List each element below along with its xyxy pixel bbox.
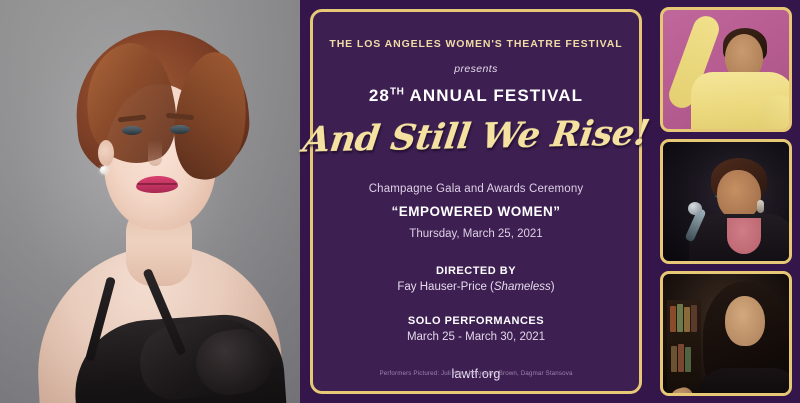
photo3-book [678, 344, 684, 372]
photo2-head [717, 170, 761, 220]
directed-by-label: DIRECTED BY [436, 265, 516, 277]
photo2-neckline [727, 218, 761, 254]
photo3-head [725, 296, 765, 346]
photo3-book [670, 306, 676, 332]
solo-performances-dates: March 25 - March 30, 2021 [407, 331, 545, 343]
director-credit-close: ) [551, 281, 555, 293]
photo3-torso [697, 368, 792, 396]
gala-date: Thursday, March 25, 2021 [409, 228, 542, 240]
solo-performances-label: SOLO PERFORMANCES [408, 315, 544, 327]
portrait-eye-left [122, 126, 142, 135]
microphone-icon [688, 202, 702, 215]
photo2-earring [757, 200, 764, 213]
performer-photo-column [652, 0, 800, 403]
portrait-eye-right [170, 125, 190, 134]
festival-name: THE LOS ANGELES WOMEN'S THEATRE FESTIVAL [329, 38, 622, 51]
portrait-ear [98, 140, 114, 166]
edition-number: 28 [369, 86, 390, 105]
portrait-lip-line [137, 183, 177, 185]
performer-photo-1 [660, 7, 792, 132]
director-show-title: Shameless [494, 281, 551, 293]
edition-suffix: TH [390, 86, 404, 97]
poster-title: And Still We Rise! [300, 112, 651, 160]
portrait-earring [100, 166, 108, 174]
photo3-book [684, 307, 690, 332]
poster: THE LOS ANGELES WOMEN'S THEATRE FESTIVAL… [0, 0, 800, 403]
performer-photo-2 [660, 139, 792, 264]
photo3-book [677, 304, 683, 332]
edition-rest: ANNUAL FESTIVAL [404, 86, 583, 105]
director-name: Fay Hauser-Price ( [397, 281, 494, 293]
photo3-book [691, 305, 697, 332]
gold-border-frame: THE LOS ANGELES WOMEN'S THEATRE FESTIVAL… [310, 9, 642, 394]
edition-heading: 28TH ANNUAL FESTIVAL [369, 86, 583, 106]
photo3-book [685, 347, 691, 372]
portrait-nose [148, 140, 162, 166]
featured-portrait-image [0, 0, 300, 403]
gala-line: Champagne Gala and Awards Ceremony [369, 183, 584, 195]
poster-text-panel: THE LOS ANGELES WOMEN'S THEATRE FESTIVAL… [300, 0, 652, 403]
performers-pictured-credits: Performers Pictured: Juli Kim, Jacquelyn… [313, 370, 639, 377]
photo3-book [671, 346, 677, 372]
performer-photo-3 [660, 271, 792, 396]
event-theme: “EMPOWERED WOMEN” [392, 204, 561, 219]
director-credit: Fay Hauser-Price (Shameless) [397, 281, 554, 293]
presents-label: presents [454, 63, 497, 75]
